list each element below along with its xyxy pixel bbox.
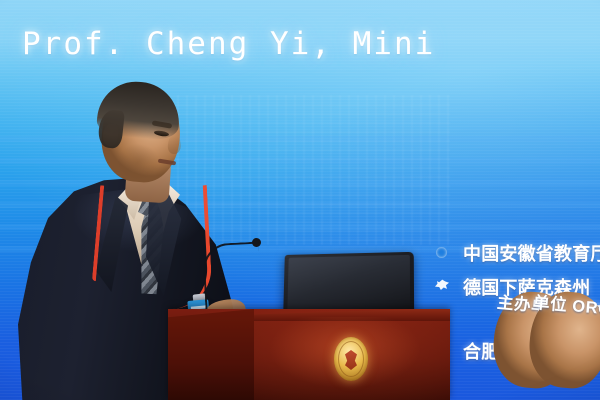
podium xyxy=(168,309,450,400)
microphone-capsule xyxy=(252,238,261,247)
nose xyxy=(167,135,182,155)
hefei-university-crest-icon xyxy=(334,337,368,381)
conference-photo: Prof. Cheng Yi, Mini 主办单位 VERANSTALT 中国安… xyxy=(0,0,600,400)
podium-left-face xyxy=(168,309,254,400)
